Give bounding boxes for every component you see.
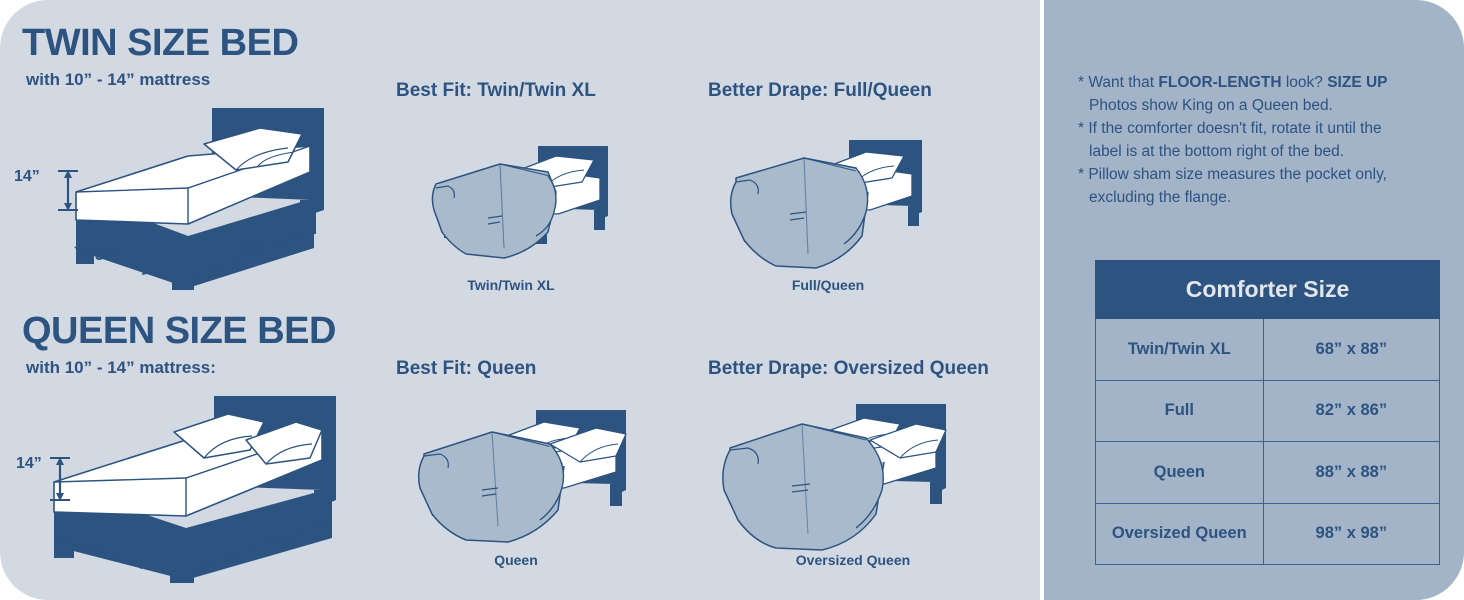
caption-full-queen: Full/Queen [708,277,948,293]
twin-width-label: 38” [95,247,121,265]
comforter-oversized-queen-illustration [718,394,988,552]
note-1-bold-size-up: SIZE UP [1327,74,1387,91]
table-cell-size: Twin/Twin XL [1096,319,1264,381]
note-3-line-1: * Pillow sham size measures the pocket o… [1078,164,1450,186]
table-row: Full 82” x 86” [1096,380,1440,442]
twin-subtitle: with 10” - 14” mattress [26,70,210,90]
table-cell-dimensions: 88” x 88” [1263,442,1439,504]
infographic-root: TWIN SIZE BED with 10” - 14” mattress [0,0,1464,600]
note-1-mid: look? [1282,74,1328,91]
table-row: Queen 88” x 88” [1096,442,1440,504]
note-1-pre: * Want that [1078,74,1158,91]
twin-bed-illustration [14,100,344,290]
caption-twin-twin-xl: Twin/Twin XL [396,277,626,293]
twin-length-label: 75” [238,240,264,258]
queen-subtitle: with 10” - 14” mattress: [26,358,216,378]
caption-queen: Queen [396,552,636,568]
table-cell-dimensions: 68” x 88” [1263,319,1439,381]
table-header-row: Comforter Size [1096,261,1440,319]
comforter-twin-illustration [408,128,643,278]
heading-queen-best-fit: Best Fit: Queen [396,358,536,380]
heading-twin-best-fit: Best Fit: Twin/Twin XL [396,80,596,102]
caption-oversized-queen: Oversized Queen [708,552,998,568]
twin-title: TWIN SIZE BED [22,22,298,65]
table-cell-size: Queen [1096,442,1264,504]
note-2-line-2: label is at the bottom right of the bed. [1078,141,1450,163]
note-2-line-1: * If the comforter doesn't fit, rotate i… [1078,118,1450,140]
notes-block: * Want that FLOOR-LENGTH look? SIZE UP P… [1078,72,1450,210]
queen-bed-illustration [14,388,364,583]
comforter-fullqueen-illustration [714,126,964,278]
note-3-line-2: excluding the flange. [1078,187,1450,209]
queen-width-label: 60” [88,540,114,558]
table-cell-dimensions: 98” x 98” [1263,503,1439,565]
queen-height-label: 14” [16,455,42,473]
heading-twin-better-drape: Better Drape: Full/Queen [708,80,932,102]
queen-title: QUEEN SIZE BED [22,310,336,353]
note-1-bold-floor-length: FLOOR-LENGTH [1158,74,1281,91]
table-cell-size: Full [1096,380,1264,442]
table-row: Oversized Queen 98” x 98” [1096,503,1440,565]
table-cell-size: Oversized Queen [1096,503,1264,565]
table-header-title: Comforter Size [1096,261,1440,319]
twin-height-label: 14” [14,168,40,186]
table-row: Twin/Twin XL 68” x 88” [1096,319,1440,381]
heading-queen-better-drape: Better Drape: Oversized Queen [708,358,989,380]
queen-length-label: 80” [275,534,301,552]
comforter-size-table: Comforter Size Twin/Twin XL 68” x 88” Fu… [1095,260,1440,565]
table-cell-dimensions: 82” x 86” [1263,380,1439,442]
note-1-line-1: * Want that FLOOR-LENGTH look? SIZE UP [1078,72,1450,94]
comforter-queen-illustration [404,398,664,548]
note-1-line-2: Photos show King on a Queen bed. [1078,95,1450,117]
